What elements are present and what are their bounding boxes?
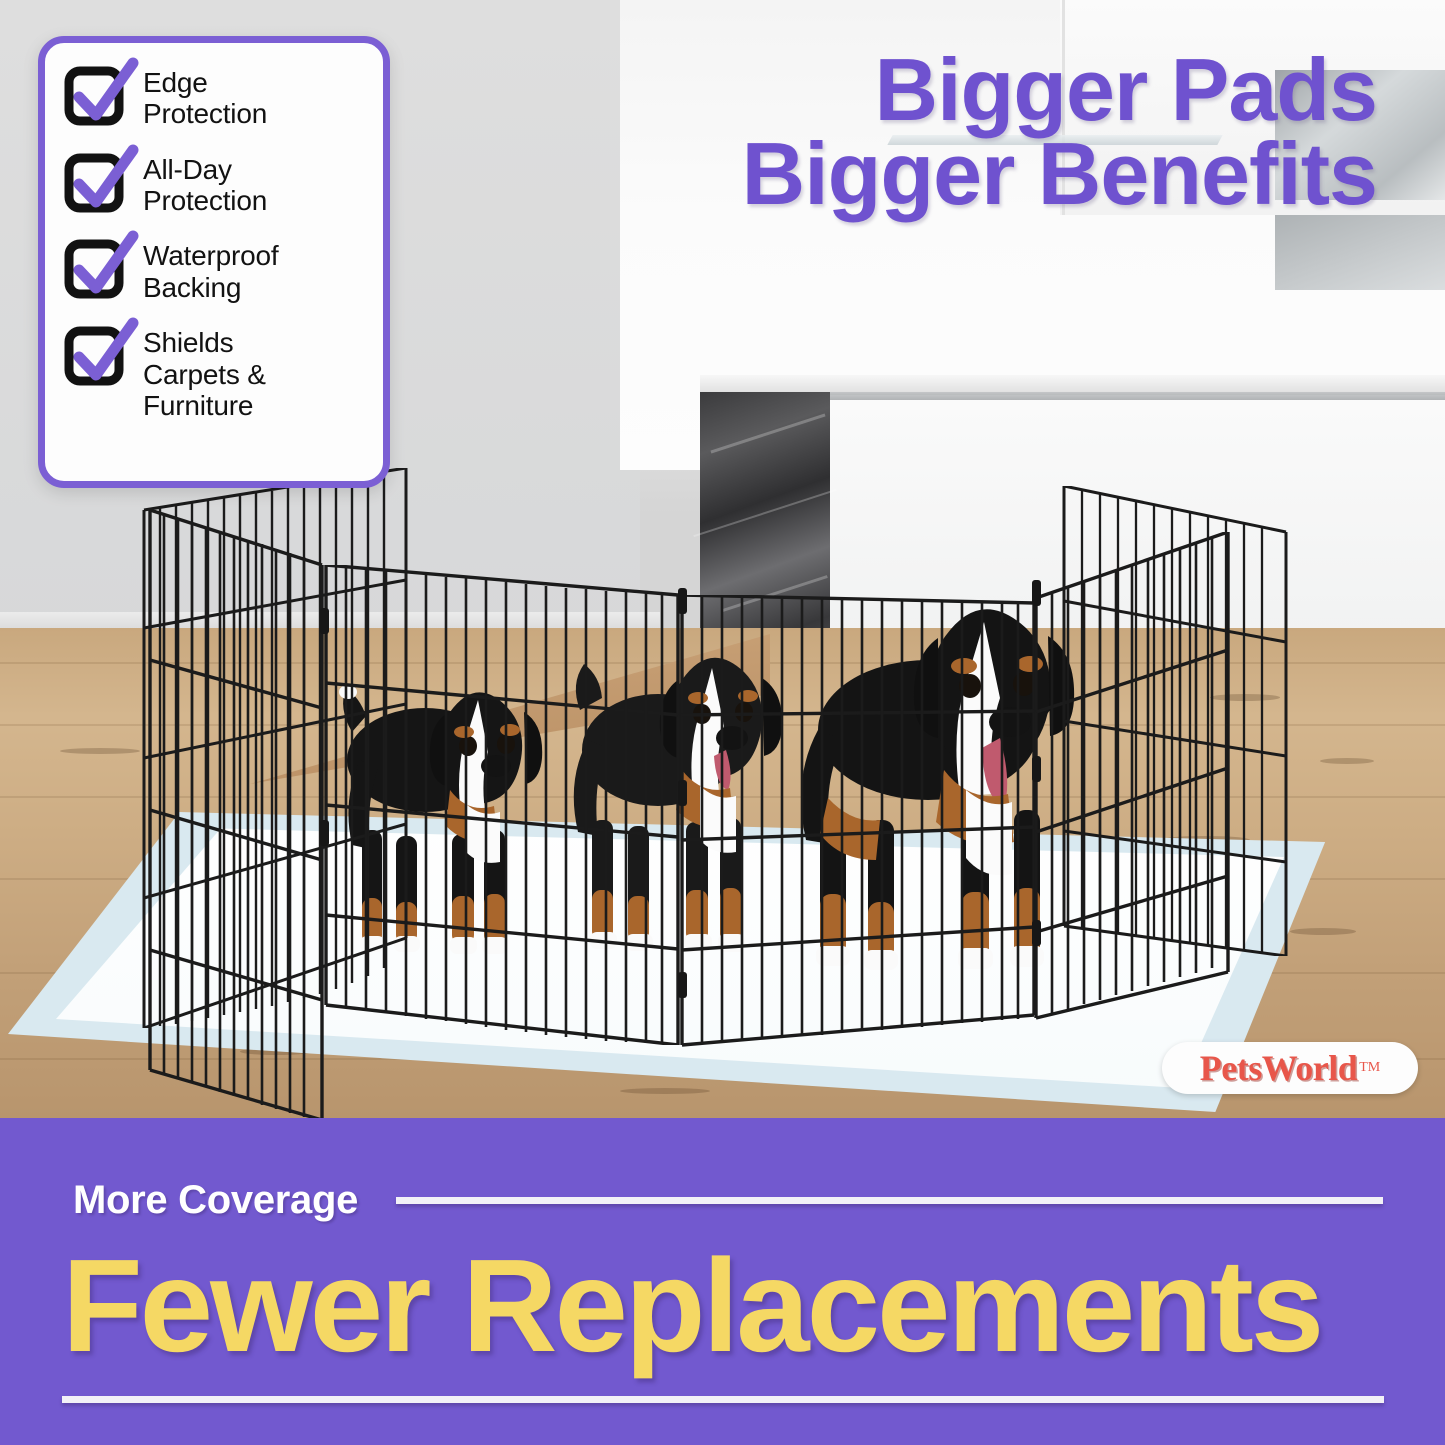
feature-label: EdgeProtection bbox=[143, 65, 267, 130]
checkbox-check-icon bbox=[67, 325, 129, 387]
product-marketing-image: PetsWorldTM EdgeProtection bbox=[0, 0, 1445, 1445]
feature-label: ShieldsCarpets &Furniture bbox=[143, 325, 266, 421]
feature-list-card: EdgeProtection All-DayProtection bbox=[38, 36, 390, 488]
pen-panel-front-center bbox=[678, 595, 1038, 1055]
feature-item-waterproof-backing: WaterproofBacking bbox=[67, 238, 367, 303]
banner-headline: Fewer Replacements bbox=[62, 1240, 1321, 1372]
checkbox-check-icon bbox=[67, 238, 129, 300]
product-scene-photo: PetsWorldTM EdgeProtection bbox=[0, 0, 1445, 1118]
panel-hinge bbox=[320, 820, 329, 846]
brand-logo: PetsWorldTM bbox=[1162, 1042, 1418, 1094]
panel-hinge bbox=[1032, 920, 1041, 946]
feature-item-shields-carpets-furniture: ShieldsCarpets &Furniture bbox=[67, 325, 367, 421]
feature-label: All-DayProtection bbox=[143, 152, 267, 217]
panel-hinge bbox=[320, 608, 329, 634]
headline-line-1: Bigger Pads bbox=[742, 48, 1377, 132]
wire-playpen bbox=[0, 420, 1445, 1080]
mirror-panel-lower bbox=[1275, 215, 1445, 290]
feature-item-edge-protection: EdgeProtection bbox=[67, 65, 367, 130]
brand-name: PetsWorld bbox=[1200, 1047, 1357, 1089]
feature-label: WaterproofBacking bbox=[143, 238, 278, 303]
pen-panel-left-front bbox=[146, 510, 326, 1118]
headline: Bigger Pads Bigger Benefits bbox=[742, 48, 1377, 217]
panel-hinge bbox=[1032, 756, 1041, 782]
banner-top-row: More Coverage bbox=[73, 1178, 1383, 1223]
panel-hinge bbox=[678, 588, 687, 614]
checkbox-check-icon bbox=[67, 65, 129, 127]
banner-rule-top bbox=[396, 1197, 1383, 1204]
headline-line-2: Bigger Benefits bbox=[742, 132, 1377, 216]
banner-subtext: More Coverage bbox=[73, 1178, 358, 1223]
trademark-symbol: TM bbox=[1359, 1060, 1380, 1076]
panel-hinge bbox=[678, 972, 687, 998]
banner-rule-bottom bbox=[62, 1396, 1384, 1403]
pen-panel-right-back bbox=[1060, 486, 1290, 956]
checkbox-check-icon bbox=[67, 152, 129, 214]
bottom-banner: More Coverage Fewer Replacements bbox=[0, 1118, 1445, 1445]
feature-item-all-day-protection: All-DayProtection bbox=[67, 152, 367, 217]
pen-panel-front-left bbox=[322, 565, 682, 1045]
panel-hinge bbox=[1032, 580, 1041, 606]
panel-hinge bbox=[678, 780, 687, 806]
